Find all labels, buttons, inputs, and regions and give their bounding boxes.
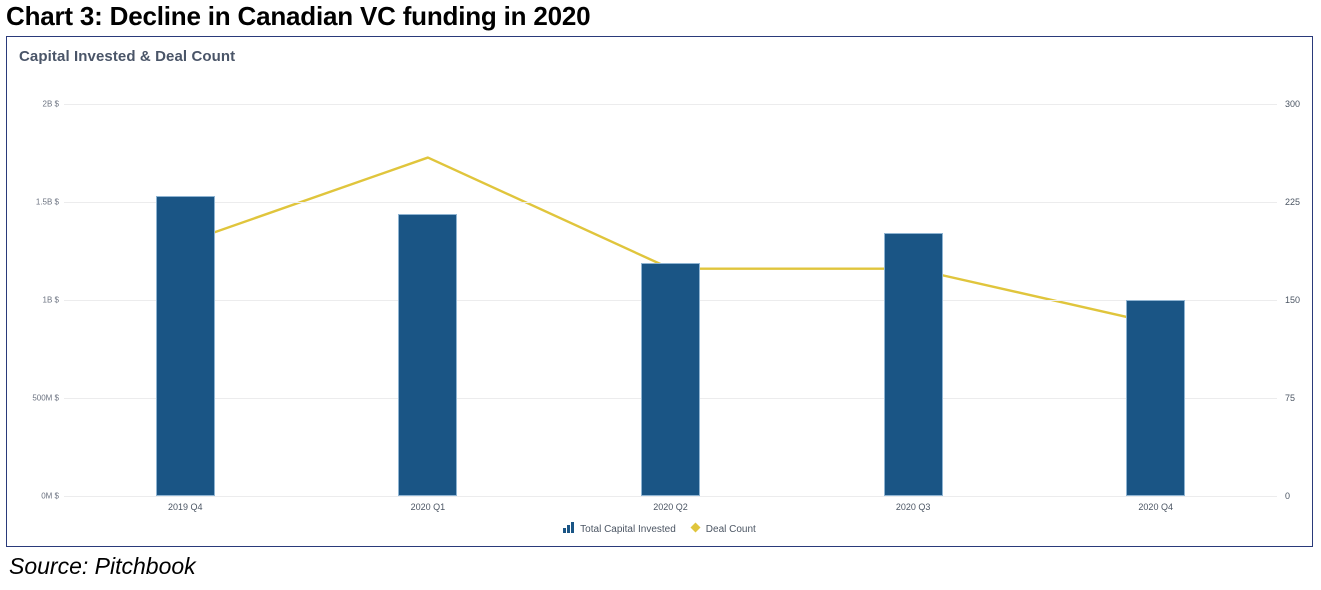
- x-axis-category-label: 2019 Q4: [168, 502, 203, 512]
- figure-container: Chart 3: Decline in Canadian VC funding …: [0, 0, 1321, 590]
- y-axis-tick-label: 1.5B $: [36, 198, 59, 207]
- gridline: [64, 104, 1277, 105]
- bar-total-capital-invested[interactable]: [1126, 300, 1185, 496]
- chart-subtitle: Capital Invested & Deal Count: [19, 48, 235, 65]
- bar-total-capital-invested[interactable]: [641, 263, 700, 496]
- plot-area: 0M $500M $1B $1.5B $2B $0751502253002019…: [64, 104, 1277, 496]
- y2-axis-tick-label: 300: [1285, 99, 1300, 109]
- y-axis-tick-label: 2B $: [43, 100, 59, 109]
- legend-label-deal-count: Deal Count: [706, 524, 756, 535]
- gridline: [64, 496, 1277, 497]
- legend-label-total-capital-invested: Total Capital Invested: [580, 524, 676, 535]
- legend-item-deal-count[interactable]: Deal Count: [690, 520, 756, 538]
- y2-axis-tick-label: 150: [1285, 295, 1300, 305]
- source-note: Source: Pitchbook: [9, 553, 196, 580]
- x-axis-category-label: 2020 Q2: [653, 502, 688, 512]
- diamond-marker-icon: [690, 520, 701, 538]
- legend-item-total-capital-invested[interactable]: Total Capital Invested: [563, 520, 676, 538]
- y-axis-tick-label: 500M $: [32, 394, 59, 403]
- chart-legend: Total Capital Invested Deal Count: [7, 520, 1312, 538]
- chart-panel: Capital Invested & Deal Count 0M $500M $…: [6, 36, 1313, 547]
- x-axis-category-label: 2020 Q1: [411, 502, 446, 512]
- bar-chart-icon: [563, 520, 575, 538]
- bar-total-capital-invested[interactable]: [884, 233, 943, 496]
- page-title: Chart 3: Decline in Canadian VC funding …: [6, 1, 590, 32]
- gridline: [64, 202, 1277, 203]
- bar-total-capital-invested[interactable]: [156, 196, 215, 496]
- y2-axis-tick-label: 225: [1285, 197, 1300, 207]
- y-axis-tick-label: 1B $: [43, 296, 59, 305]
- y-axis-tick-label: 0M $: [41, 492, 59, 501]
- x-axis-category-label: 2020 Q4: [1138, 502, 1173, 512]
- y2-axis-tick-label: 75: [1285, 393, 1295, 403]
- bar-total-capital-invested[interactable]: [398, 214, 457, 496]
- x-axis-category-label: 2020 Q3: [896, 502, 931, 512]
- y2-axis-tick-label: 0: [1285, 491, 1290, 501]
